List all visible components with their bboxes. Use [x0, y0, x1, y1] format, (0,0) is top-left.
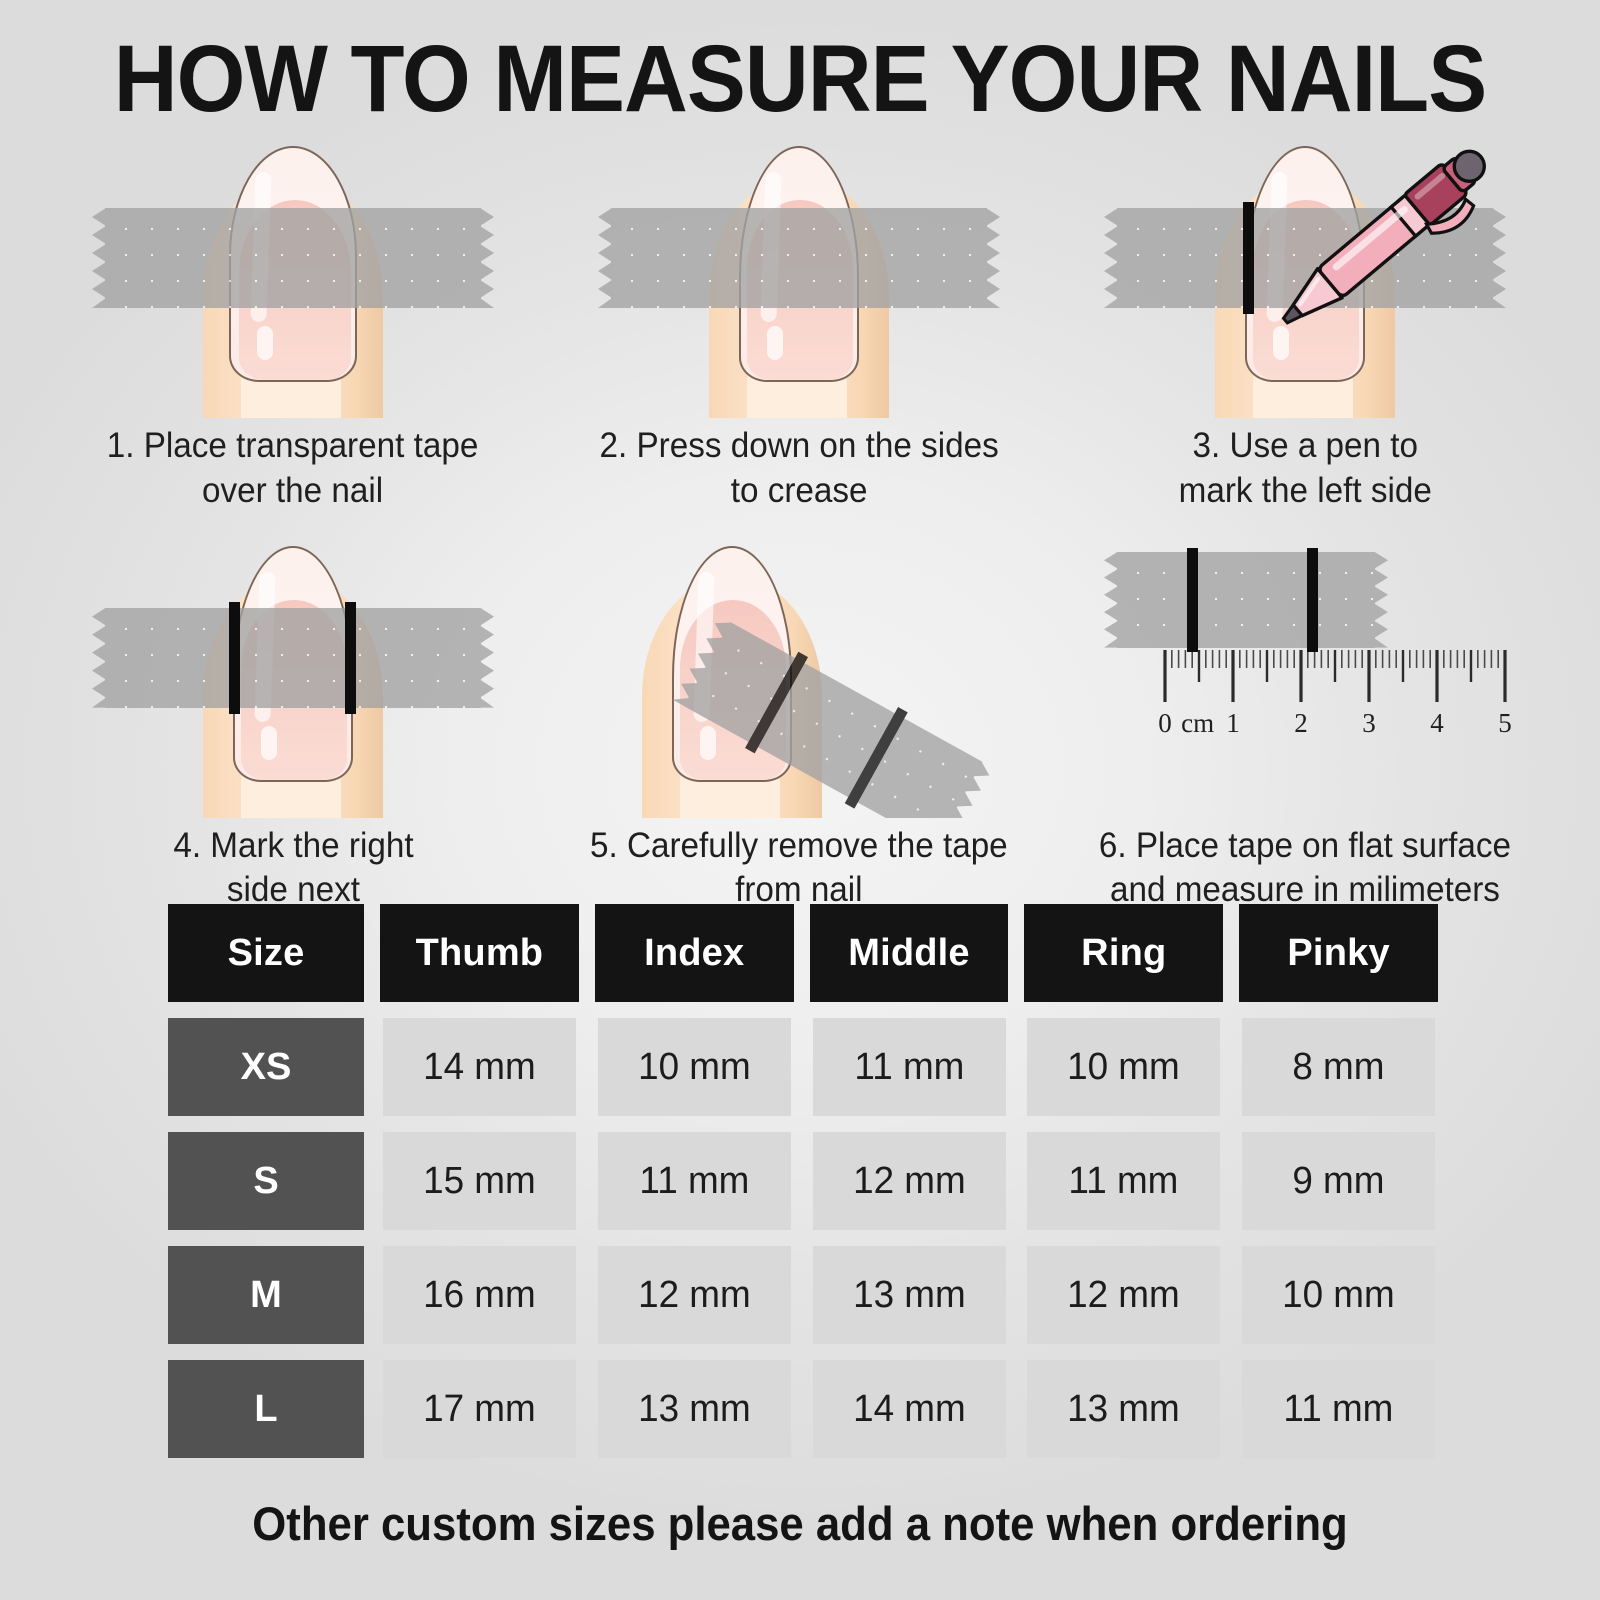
size-label-s: S: [168, 1132, 364, 1230]
table-row: L17 mm13 mm14 mm13 mm11 mm: [168, 1360, 1438, 1458]
measurement-cell: 14 mm: [813, 1360, 1006, 1458]
step-1-illustration: [83, 128, 503, 418]
pen-icon: [1255, 128, 1515, 352]
step-1-caption: 1. Place transparent tape over the nail: [107, 424, 479, 514]
page-title: HOW TO MEASURE YOUR NAILS: [56, 32, 1544, 127]
table-header-middle: Middle: [810, 904, 1009, 1002]
step-1: 1. Place transparent tape over the nail: [40, 128, 546, 514]
measurement-cell: 10 mm: [598, 1018, 791, 1116]
measurement-cell: 17 mm: [383, 1360, 576, 1458]
table-header-row: SizeThumbIndexMiddleRingPinky: [168, 904, 1438, 1002]
measurement-cell: 13 mm: [813, 1246, 1006, 1344]
measurement-cell: 9 mm: [1242, 1132, 1435, 1230]
measurement-cell: 11 mm: [813, 1018, 1006, 1116]
step-5-caption: 5. Carefully remove the tape from nail: [590, 824, 1008, 914]
steps-row-1: 1. Place transparent tape over the nail …: [40, 128, 1560, 514]
measurement-cell: 14 mm: [383, 1018, 576, 1116]
size-label-l: L: [168, 1360, 364, 1458]
measurement-cell: 15 mm: [383, 1132, 576, 1230]
steps-row-2: 4. Mark the right side next: [40, 528, 1560, 914]
size-label-xs: XS: [168, 1018, 364, 1116]
measurement-cell: 16 mm: [383, 1246, 576, 1344]
ruler-tick-label: 1: [1226, 708, 1240, 738]
measurement-cell: 10 mm: [1027, 1018, 1220, 1116]
table-header-index: Index: [595, 904, 794, 1002]
footer-note: Other custom sizes please add a note whe…: [56, 1496, 1544, 1551]
step-5-illustration: [589, 528, 1009, 818]
ruler-tick-label: 2: [1294, 708, 1308, 738]
ruler-tick-label: 4: [1430, 708, 1444, 738]
right-edge-mark: [345, 602, 356, 714]
size-label-m: M: [168, 1246, 364, 1344]
tape-strip-flat: [1117, 552, 1375, 648]
right-edge-mark: [1307, 548, 1318, 652]
table-header-thumb: Thumb: [380, 904, 579, 1002]
step-4: 4. Mark the right side next: [40, 528, 546, 914]
left-edge-mark: [229, 602, 240, 714]
step-2-caption: 2. Press down on the sides to crease: [599, 424, 998, 514]
step-3: 3. Use a pen to mark the left side: [1052, 128, 1558, 514]
ruler-graphic: 012345cm: [1095, 644, 1515, 814]
table-body: XS14 mm10 mm11 mm10 mm8 mmS15 mm11 mm12 …: [168, 1018, 1438, 1458]
measurement-cell: 10 mm: [1242, 1246, 1435, 1344]
measurement-cell: 12 mm: [813, 1132, 1006, 1230]
measurement-cell: 13 mm: [598, 1360, 791, 1458]
step-2: 2. Press down on the sides to crease: [546, 128, 1052, 514]
step-4-caption: 4. Mark the right side next: [173, 824, 413, 914]
left-edge-mark: [1187, 548, 1198, 652]
table-row: S15 mm11 mm12 mm11 mm9 mm: [168, 1132, 1438, 1230]
measurement-cell: 11 mm: [1242, 1360, 1435, 1458]
table-header-ring: Ring: [1024, 904, 1223, 1002]
measurement-cell: 12 mm: [598, 1246, 791, 1344]
ruler-unit-label: cm: [1181, 708, 1214, 738]
tape-strip: [105, 208, 481, 308]
left-edge-mark: [1243, 202, 1254, 314]
ruler-tick-label: 0: [1158, 708, 1172, 738]
measurement-cell: 13 mm: [1027, 1360, 1220, 1458]
step-2-illustration: [589, 128, 1009, 418]
tape-strip: [611, 208, 987, 308]
tape-strip: [105, 608, 481, 708]
ruler-tick-label: 3: [1362, 708, 1376, 738]
step-6-illustration: 012345cm: [1095, 528, 1515, 818]
steps-section: 1. Place transparent tape over the nail …: [40, 128, 1560, 913]
table-header-size: Size: [168, 904, 364, 1002]
measurement-cell: 11 mm: [598, 1132, 791, 1230]
ruler-tick-label: 5: [1498, 708, 1512, 738]
step-6-caption: 6. Place tape on flat surface and measur…: [1099, 824, 1511, 914]
measurement-cell: 8 mm: [1242, 1018, 1435, 1116]
table-row: M16 mm12 mm13 mm12 mm10 mm: [168, 1246, 1438, 1344]
step-5: 5. Carefully remove the tape from nail: [546, 528, 1052, 914]
size-chart-table: SizeThumbIndexMiddleRingPinky XS14 mm10 …: [168, 904, 1438, 1474]
step-4-illustration: [83, 528, 503, 818]
step-3-caption: 3. Use a pen to mark the left side: [1178, 424, 1431, 514]
step-6: 012345cm 6. Place tape on flat surface a…: [1052, 528, 1558, 914]
table-row: XS14 mm10 mm11 mm10 mm8 mm: [168, 1018, 1438, 1116]
measurement-cell: 12 mm: [1027, 1246, 1220, 1344]
step-3-illustration: [1095, 128, 1515, 418]
measurement-cell: 11 mm: [1027, 1132, 1220, 1230]
table-header-pinky: Pinky: [1239, 904, 1438, 1002]
